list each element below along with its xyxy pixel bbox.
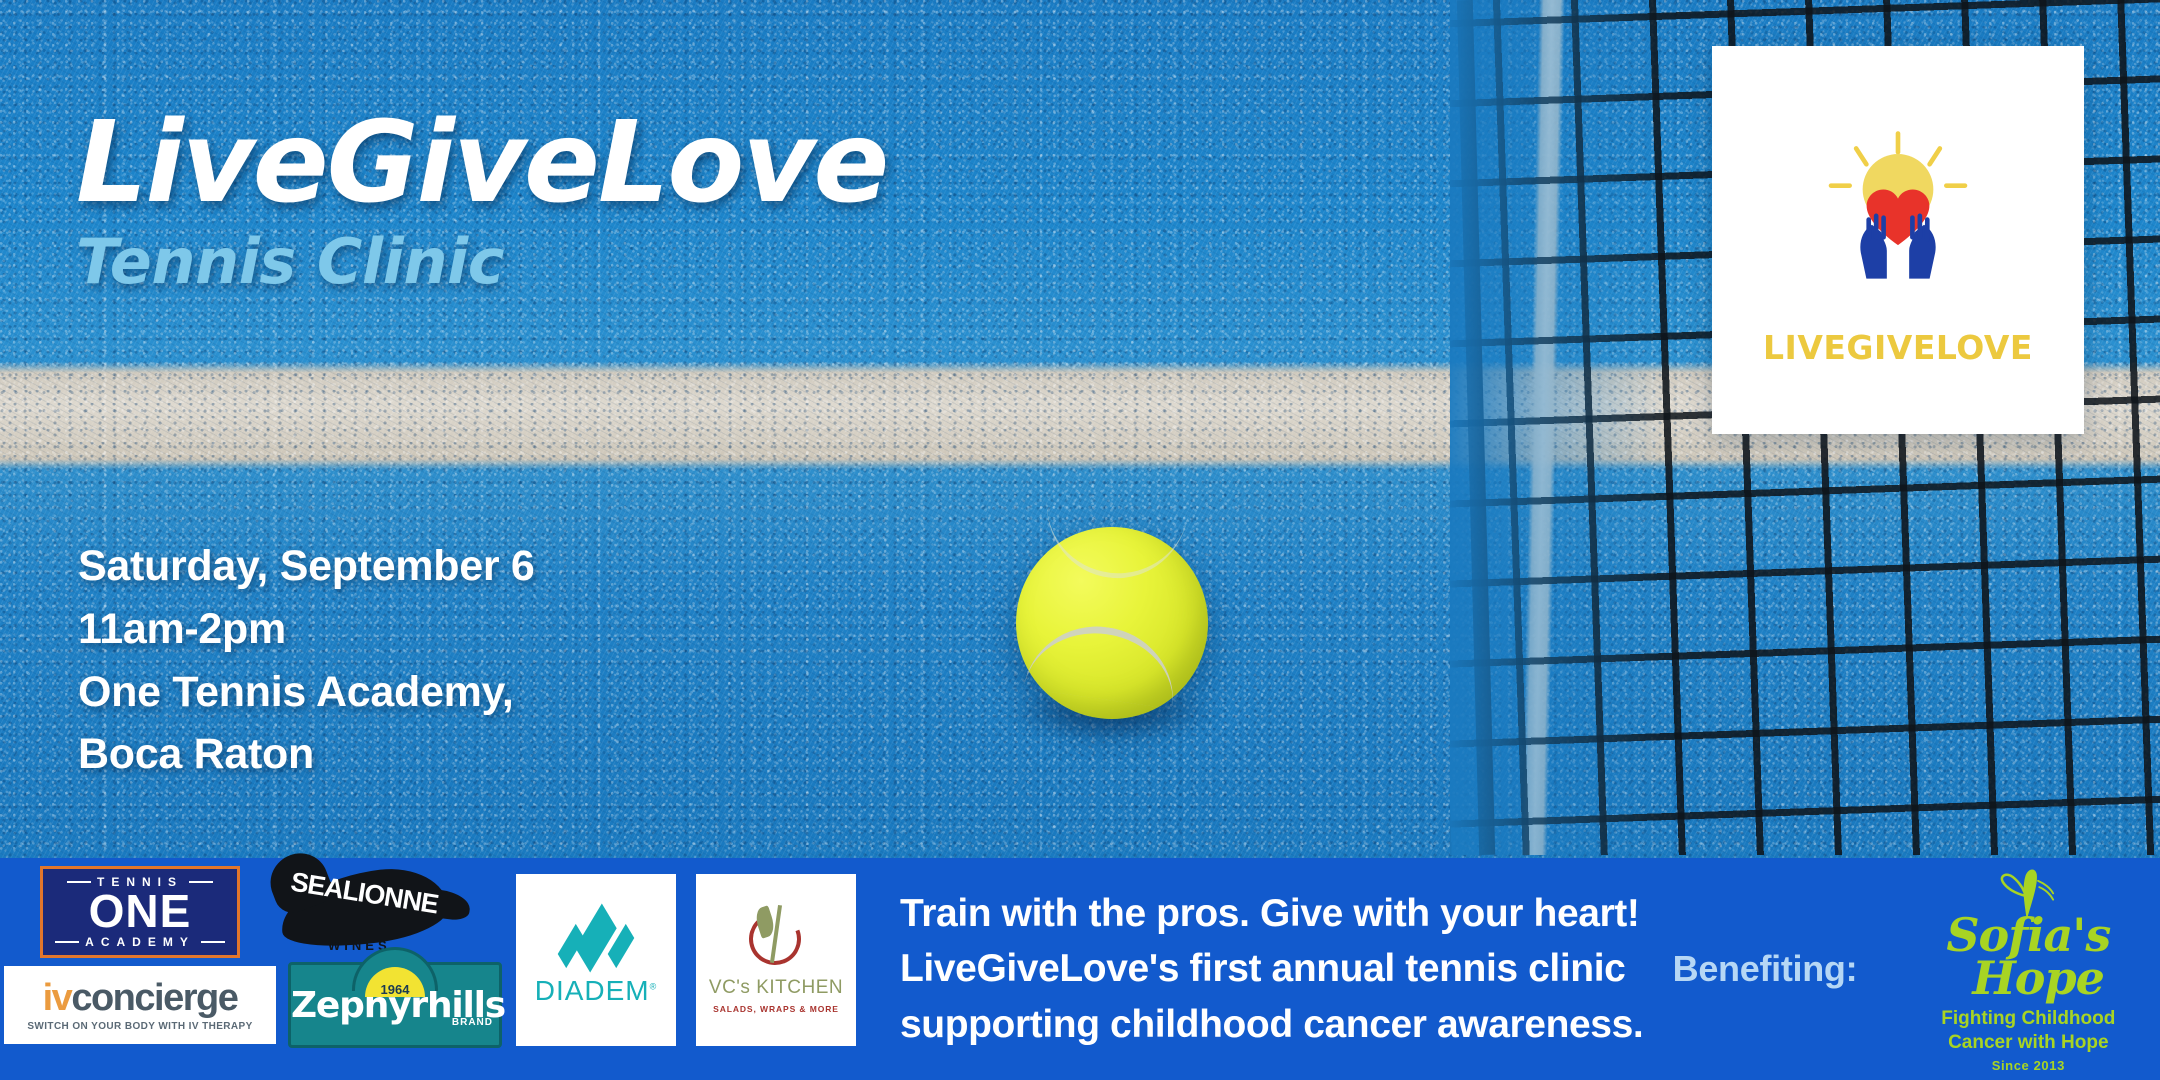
promo-line-3: supporting childhood cancer awareness. [900,997,1643,1052]
tennis-one-bottom-label: ACADEMY [43,935,237,949]
sofias-hope-since: Since 2013 [1992,1058,2065,1073]
vcs-kitchen-knife-leaf-icon [741,907,811,969]
event-time: 11am-2pm [78,598,535,661]
promo-line-1: Train with the pros. Give with your hear… [900,886,1643,941]
tennis-ball [1016,527,1208,719]
livegivelove-wordmark: LIVEGIVELOVE [1763,328,2033,367]
diadem-crown-icon [535,913,658,963]
sofias-hope-line-2: Hope [1972,958,2110,998]
benefiting-label: Benefiting: [1673,948,1858,990]
sofias-hope-tagline-2: Cancer with Hope [1941,1031,2115,1055]
diadem-name-label: DIADEM [535,975,650,1006]
ivconcierge-name-label: concierge [71,977,237,1019]
ivconcierge-tagline: SWITCH ON YOUR BODY WITH IV THERAPY [4,1021,276,1032]
event-venue: One Tennis Academy, [78,661,535,724]
sponsor-tennis-one-academy: TENNIS ONE ACADEMY [40,866,240,958]
event-date: Saturday, September 6 [78,535,535,598]
livegivelove-logo-card: LIVEGIVELOVE [1712,46,2084,434]
sofias-hope-logo: Sofia's Hope Fighting Childhood Cancer w… [1863,858,2160,1080]
sponsor-vcs-kitchen: VC's KITCHEN SALADS, WRAPS & MORE [696,874,856,1046]
sponsor-logos: TENNIS ONE ACADEMY ivconcierge SWITCH ON… [0,858,878,1080]
page-subtitle: Tennis Clinic [76,225,887,298]
event-poster: LiveGiveLove Tennis Clinic Saturday, Sep… [0,0,2160,1080]
sun-heart-hands-icon [1805,128,1991,314]
diadem-registered-mark: ® [650,982,658,992]
vcs-kitchen-name-label: VC's KITCHEN [709,977,843,999]
vcs-kitchen-tagline: SALADS, WRAPS & MORE [709,1004,843,1014]
promo-line-2: LiveGiveLove's first annual tennis clini… [900,941,1643,996]
benefiting-label-wrap: Benefiting: [1663,858,1863,1080]
event-details: Saturday, September 6 11am-2pm One Tenni… [78,535,535,786]
headline-block: LiveGiveLove Tennis Clinic [76,112,887,298]
sponsor-sealionne-wines: SEALIONNE WINES [276,860,452,956]
sofias-hope-tagline-1: Fighting Childhood [1941,1007,2115,1031]
event-city: Boca Raton [78,723,535,786]
sponsor-diadem: DIADEM® [516,874,676,1046]
tennis-one-main-label: ONE [43,889,237,934]
bottom-bar: TENNIS ONE ACADEMY ivconcierge SWITCH ON… [0,858,2160,1080]
page-title: LiveGiveLove [76,112,887,215]
ivconcierge-iv-label: iv [43,977,72,1019]
promo-text: Train with the pros. Give with your hear… [878,858,1663,1080]
zephyrhills-brand-label: BRAND [452,1017,493,1028]
sponsor-zephyrhills: 1964 Zephyrhills BRAND [288,962,502,1048]
sponsor-ivconcierge: ivconcierge SWITCH ON YOUR BODY WITH IV … [4,966,276,1044]
